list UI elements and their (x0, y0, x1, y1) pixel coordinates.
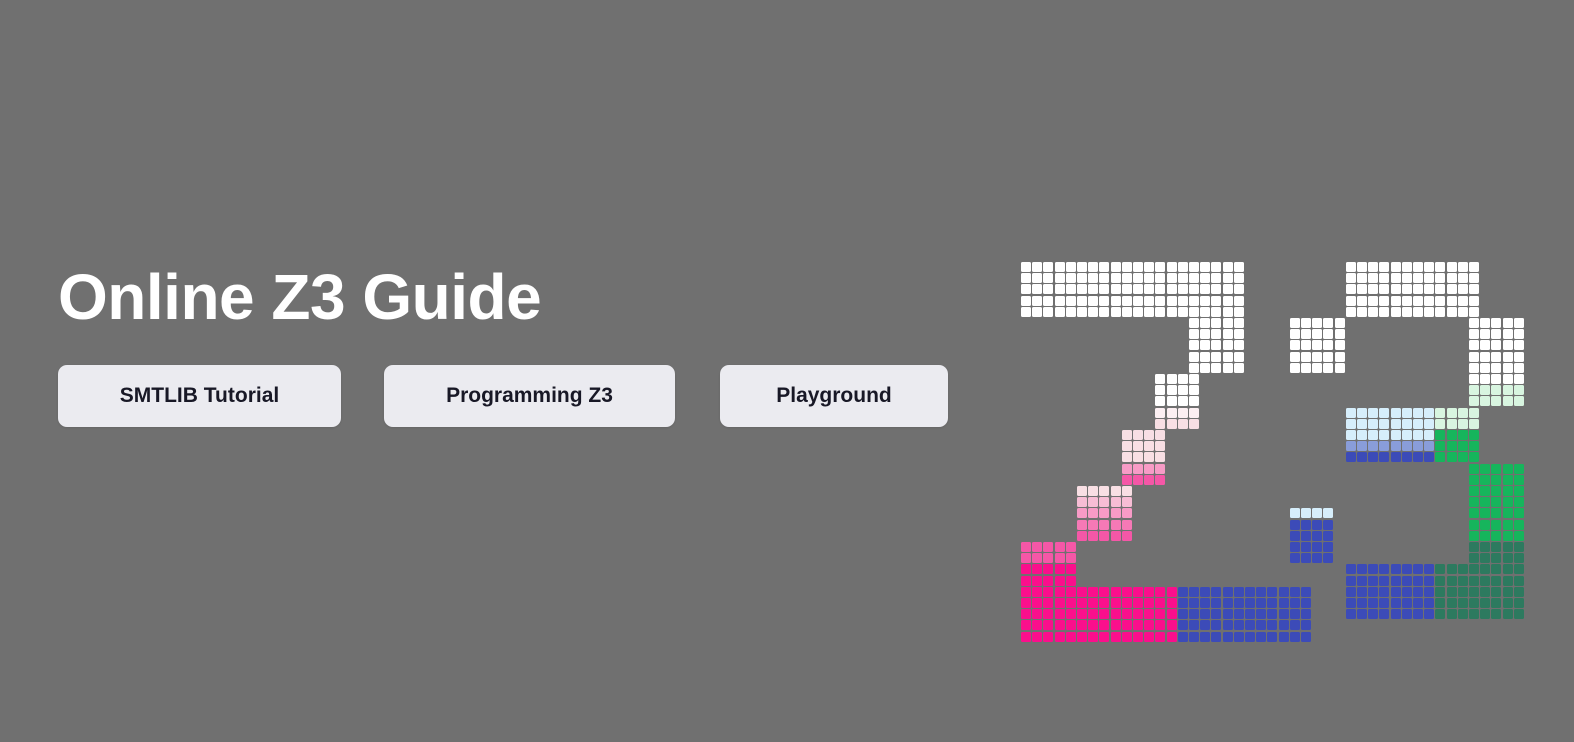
logo-pixel (1245, 587, 1255, 597)
logo-pixel (1234, 273, 1244, 283)
logo-pixel (1189, 587, 1199, 597)
logo-pixel (1032, 587, 1042, 597)
logo-pixel (1514, 564, 1524, 574)
logo-pixel (1043, 632, 1053, 642)
logo-pixel (1279, 609, 1289, 619)
logo-pixel (1491, 508, 1501, 518)
logo-pixel (1290, 542, 1300, 552)
logo-pixel (1469, 553, 1479, 563)
logo-pixel (1043, 296, 1053, 306)
logo-pixel (1335, 329, 1345, 339)
logo-pixel (1088, 531, 1098, 541)
logo-pixel (1424, 284, 1434, 294)
logo-pixel (1021, 598, 1031, 608)
logo-pixel (1491, 340, 1501, 350)
logo-pixel (1234, 609, 1244, 619)
logo-pixel (1503, 497, 1513, 507)
logo-pixel (1413, 598, 1423, 608)
logo-pixel (1099, 497, 1109, 507)
programming-z3-label: Programming Z3 (446, 384, 613, 408)
logo-pixel (1503, 576, 1513, 586)
logo-pixel (1435, 430, 1445, 440)
logo-pixel (1234, 587, 1244, 597)
logo-pixel (1469, 284, 1479, 294)
logo-pixel (1167, 598, 1177, 608)
logo-pixel (1032, 620, 1042, 630)
logo-pixel (1357, 430, 1367, 440)
logo-pixel (1402, 273, 1412, 283)
logo-pixel (1290, 553, 1300, 563)
logo-pixel (1189, 385, 1199, 395)
logo-pixel (1357, 576, 1367, 586)
logo-pixel (1189, 374, 1199, 384)
logo-pixel (1021, 307, 1031, 317)
logo-pixel (1066, 587, 1076, 597)
logo-pixel (1346, 273, 1356, 283)
logo-pixel (1122, 452, 1132, 462)
logo-pixel (1178, 396, 1188, 406)
logo-pixel (1200, 262, 1210, 272)
logo-pixel (1043, 262, 1053, 272)
logo-pixel (1189, 396, 1199, 406)
logo-pixel (1514, 318, 1524, 328)
logo-pixel (1223, 609, 1233, 619)
logo-pixel (1256, 632, 1266, 642)
logo-pixel (1458, 284, 1468, 294)
logo-pixel (1514, 396, 1524, 406)
logo-pixel (1111, 632, 1121, 642)
logo-pixel (1503, 520, 1513, 530)
logo-pixel (1066, 542, 1076, 552)
logo-pixel (1413, 262, 1423, 272)
logo-pixel (1379, 441, 1389, 451)
logo-pixel (1111, 307, 1121, 317)
logo-pixel (1111, 587, 1121, 597)
logo-pixel (1021, 553, 1031, 563)
logo-pixel (1379, 262, 1389, 272)
logo-pixel (1312, 542, 1322, 552)
logo-pixel (1211, 340, 1221, 350)
logo-pixel (1435, 408, 1445, 418)
logo-pixel (1424, 419, 1434, 429)
logo-pixel (1256, 609, 1266, 619)
logo-pixel (1469, 296, 1479, 306)
logo-pixel (1234, 296, 1244, 306)
logo-pixel (1043, 307, 1053, 317)
logo-pixel (1447, 262, 1457, 272)
logo-pixel (1491, 564, 1501, 574)
logo-pixel (1211, 329, 1221, 339)
logo-pixel (1066, 620, 1076, 630)
logo-pixel (1032, 598, 1042, 608)
logo-pixel (1469, 520, 1479, 530)
logo-pixel (1391, 441, 1401, 451)
logo-pixel (1458, 564, 1468, 574)
z3-pixel-logo (1021, 262, 1521, 586)
logo-pixel (1469, 564, 1479, 574)
logo-pixel (1032, 542, 1042, 552)
logo-pixel (1323, 553, 1333, 563)
logo-pixel (1491, 598, 1501, 608)
logo-pixel (1514, 598, 1524, 608)
logo-pixel (1491, 464, 1501, 474)
logo-pixel (1122, 598, 1132, 608)
logo-pixel (1480, 363, 1490, 373)
logo-pixel (1088, 609, 1098, 619)
logo-pixel (1200, 609, 1210, 619)
logo-pixel (1234, 363, 1244, 373)
logo-pixel (1099, 296, 1109, 306)
logo-pixel (1267, 587, 1277, 597)
logo-pixel (1447, 296, 1457, 306)
logo-pixel (1346, 587, 1356, 597)
logo-pixel (1469, 486, 1479, 496)
logo-pixel (1514, 542, 1524, 552)
logo-pixel (1491, 396, 1501, 406)
logo-pixel (1155, 284, 1165, 294)
smtlib-tutorial-label: SMTLIB Tutorial (120, 384, 279, 408)
logo-pixel (1200, 284, 1210, 294)
logo-pixel (1144, 632, 1154, 642)
playground-button[interactable]: Playground (720, 365, 948, 427)
logo-pixel (1480, 385, 1490, 395)
logo-pixel (1402, 564, 1412, 574)
logo-pixel (1167, 609, 1177, 619)
logo-pixel (1234, 318, 1244, 328)
hero-section: Online Z3 Guide SMTLIB Tutorial Programm… (0, 0, 1574, 742)
logo-pixel (1178, 296, 1188, 306)
logo-pixel (1167, 374, 1177, 384)
logo-pixel (1514, 553, 1524, 563)
logo-pixel (1088, 598, 1098, 608)
logo-pixel (1391, 452, 1401, 462)
logo-pixel (1133, 262, 1143, 272)
logo-pixel (1211, 273, 1221, 283)
logo-pixel (1402, 598, 1412, 608)
logo-pixel (1312, 553, 1322, 563)
logo-pixel (1032, 262, 1042, 272)
logo-pixel (1312, 318, 1322, 328)
logo-pixel (1223, 363, 1233, 373)
logo-pixel (1491, 329, 1501, 339)
logo-pixel (1335, 352, 1345, 362)
logo-pixel (1167, 396, 1177, 406)
logo-pixel (1122, 307, 1132, 317)
logo-pixel (1211, 318, 1221, 328)
logo-pixel (1469, 542, 1479, 552)
logo-pixel (1234, 340, 1244, 350)
logo-pixel (1424, 587, 1434, 597)
logo-pixel (1447, 452, 1457, 462)
logo-pixel (1514, 363, 1524, 373)
logo-pixel (1211, 363, 1221, 373)
logo-pixel (1099, 620, 1109, 630)
logo-pixel (1413, 430, 1423, 440)
logo-pixel (1021, 609, 1031, 619)
logo-pixel (1491, 587, 1501, 597)
logo-pixel (1043, 542, 1053, 552)
logo-pixel (1301, 620, 1311, 630)
logo-pixel (1290, 609, 1300, 619)
logo-pixel (1402, 307, 1412, 317)
logo-pixel (1055, 609, 1065, 619)
logo-pixel (1503, 385, 1513, 395)
logo-pixel (1391, 576, 1401, 586)
nav-button-group: SMTLIB Tutorial Programming Z3 Playgroun… (58, 365, 948, 427)
logo-pixel (1122, 430, 1132, 440)
logo-pixel (1357, 441, 1367, 451)
logo-pixel (1189, 307, 1199, 317)
logo-pixel (1077, 508, 1087, 518)
logo-pixel (1301, 598, 1311, 608)
logo-pixel (1391, 262, 1401, 272)
logo-pixel (1088, 520, 1098, 530)
logo-pixel (1391, 273, 1401, 283)
logo-pixel (1301, 632, 1311, 642)
logo-pixel (1223, 587, 1233, 597)
logo-pixel (1155, 385, 1165, 395)
logo-pixel (1032, 273, 1042, 283)
logo-pixel (1357, 307, 1367, 317)
logo-pixel (1122, 262, 1132, 272)
smtlib-tutorial-button[interactable]: SMTLIB Tutorial (58, 365, 341, 427)
logo-pixel (1514, 340, 1524, 350)
logo-pixel (1480, 520, 1490, 530)
logo-pixel (1424, 564, 1434, 574)
logo-pixel (1245, 598, 1255, 608)
logo-pixel (1200, 307, 1210, 317)
logo-pixel (1491, 374, 1501, 384)
logo-pixel (1503, 374, 1513, 384)
logo-pixel (1503, 553, 1513, 563)
logo-pixel (1301, 363, 1311, 373)
logo-pixel (1357, 564, 1367, 574)
logo-pixel (1480, 340, 1490, 350)
logo-pixel (1133, 441, 1143, 451)
logo-pixel (1178, 609, 1188, 619)
logo-pixel (1469, 531, 1479, 541)
logo-pixel (1435, 587, 1445, 597)
logo-pixel (1447, 576, 1457, 586)
logo-pixel (1503, 340, 1513, 350)
logo-pixel (1346, 441, 1356, 451)
logo-pixel (1088, 273, 1098, 283)
logo-pixel (1402, 576, 1412, 586)
logo-pixel (1290, 363, 1300, 373)
logo-pixel (1155, 587, 1165, 597)
logo-pixel (1077, 262, 1087, 272)
logo-pixel (1312, 363, 1322, 373)
logo-pixel (1312, 329, 1322, 339)
logo-pixel (1503, 531, 1513, 541)
logo-pixel (1077, 531, 1087, 541)
logo-pixel (1514, 587, 1524, 597)
logo-pixel (1234, 598, 1244, 608)
logo-pixel (1189, 296, 1199, 306)
logo-pixel (1077, 307, 1087, 317)
logo-pixel (1447, 587, 1457, 597)
logo-pixel (1469, 307, 1479, 317)
logo-pixel (1200, 296, 1210, 306)
logo-pixel (1189, 340, 1199, 350)
logo-pixel (1055, 307, 1065, 317)
logo-pixel (1413, 419, 1423, 429)
logo-pixel (1021, 620, 1031, 630)
logo-pixel (1223, 273, 1233, 283)
logo-pixel (1469, 464, 1479, 474)
logo-pixel (1189, 273, 1199, 283)
logo-pixel (1167, 273, 1177, 283)
logo-pixel (1111, 620, 1121, 630)
logo-pixel (1368, 419, 1378, 429)
logo-pixel (1447, 284, 1457, 294)
logo-pixel (1323, 363, 1333, 373)
logo-pixel (1402, 587, 1412, 597)
logo-pixel (1491, 486, 1501, 496)
logo-pixel (1077, 620, 1087, 630)
logo-pixel (1055, 632, 1065, 642)
logo-pixel (1503, 475, 1513, 485)
logo-pixel (1099, 609, 1109, 619)
logo-pixel (1133, 609, 1143, 619)
logo-pixel (1480, 587, 1490, 597)
logo-pixel (1469, 441, 1479, 451)
logo-pixel (1379, 273, 1389, 283)
logo-pixel (1447, 441, 1457, 451)
logo-pixel (1514, 352, 1524, 362)
logo-pixel (1167, 296, 1177, 306)
logo-pixel (1155, 620, 1165, 630)
logo-pixel (1032, 564, 1042, 574)
logo-pixel (1413, 408, 1423, 418)
logo-pixel (1368, 273, 1378, 283)
logo-pixel (1122, 508, 1132, 518)
logo-pixel (1379, 598, 1389, 608)
logo-pixel (1357, 419, 1367, 429)
logo-pixel (1032, 296, 1042, 306)
logo-pixel (1043, 273, 1053, 283)
logo-pixel (1357, 609, 1367, 619)
logo-pixel (1043, 598, 1053, 608)
programming-z3-button[interactable]: Programming Z3 (384, 365, 675, 427)
logo-pixel (1155, 452, 1165, 462)
logo-pixel (1469, 598, 1479, 608)
logo-pixel (1099, 262, 1109, 272)
logo-pixel (1458, 587, 1468, 597)
logo-pixel (1469, 329, 1479, 339)
logo-pixel (1189, 632, 1199, 642)
logo-pixel (1032, 307, 1042, 317)
logo-pixel (1178, 620, 1188, 630)
logo-pixel (1413, 284, 1423, 294)
logo-pixel (1435, 598, 1445, 608)
logo-pixel (1402, 262, 1412, 272)
logo-pixel (1066, 553, 1076, 563)
logo-pixel (1368, 408, 1378, 418)
logo-pixel (1111, 284, 1121, 294)
logo-pixel (1379, 284, 1389, 294)
logo-pixel (1413, 587, 1423, 597)
logo-pixel (1167, 408, 1177, 418)
logo-pixel (1122, 632, 1132, 642)
logo-pixel (1379, 576, 1389, 586)
logo-pixel (1099, 598, 1109, 608)
logo-pixel (1402, 430, 1412, 440)
logo-pixel (1413, 307, 1423, 317)
logo-pixel (1357, 296, 1367, 306)
logo-pixel (1155, 296, 1165, 306)
logo-pixel (1077, 497, 1087, 507)
logo-pixel (1178, 273, 1188, 283)
logo-pixel (1043, 576, 1053, 586)
logo-pixel (1133, 620, 1143, 630)
logo-pixel (1088, 508, 1098, 518)
logo-pixel (1211, 598, 1221, 608)
logo-pixel (1346, 452, 1356, 462)
logo-pixel (1167, 632, 1177, 642)
logo-pixel (1144, 307, 1154, 317)
logo-pixel (1211, 284, 1221, 294)
logo-pixel (1055, 542, 1065, 552)
logo-pixel (1189, 363, 1199, 373)
logo-pixel (1223, 318, 1233, 328)
logo-pixel (1323, 520, 1333, 530)
logo-pixel (1167, 419, 1177, 429)
logo-pixel (1491, 318, 1501, 328)
logo-pixel (1357, 598, 1367, 608)
logo-pixel (1256, 598, 1266, 608)
logo-pixel (1055, 576, 1065, 586)
logo-pixel (1256, 620, 1266, 630)
logo-pixel (1111, 296, 1121, 306)
logo-pixel (1413, 609, 1423, 619)
logo-pixel (1077, 632, 1087, 642)
logo-pixel (1469, 419, 1479, 429)
logo-pixel (1346, 576, 1356, 586)
logo-pixel (1447, 430, 1457, 440)
logo-pixel (1077, 587, 1087, 597)
logo-pixel (1234, 329, 1244, 339)
logo-pixel (1301, 553, 1311, 563)
logo-pixel (1346, 609, 1356, 619)
logo-pixel (1469, 587, 1479, 597)
logo-pixel (1301, 609, 1311, 619)
logo-pixel (1234, 307, 1244, 317)
logo-pixel (1323, 542, 1333, 552)
logo-pixel (1189, 620, 1199, 630)
logo-pixel (1424, 576, 1434, 586)
logo-pixel (1133, 598, 1143, 608)
logo-pixel (1133, 273, 1143, 283)
logo-pixel (1167, 262, 1177, 272)
logo-pixel (1032, 553, 1042, 563)
logo-pixel (1503, 363, 1513, 373)
logo-pixel (1099, 273, 1109, 283)
logo-pixel (1211, 307, 1221, 317)
logo-pixel (1122, 587, 1132, 597)
logo-pixel (1469, 576, 1479, 586)
logo-pixel (1480, 486, 1490, 496)
logo-pixel (1066, 273, 1076, 283)
logo-pixel (1424, 408, 1434, 418)
logo-pixel (1189, 598, 1199, 608)
logo-pixel (1503, 564, 1513, 574)
logo-pixel (1279, 587, 1289, 597)
logo-pixel (1301, 318, 1311, 328)
logo-pixel (1357, 284, 1367, 294)
logo-pixel (1503, 508, 1513, 518)
logo-pixel (1077, 284, 1087, 294)
